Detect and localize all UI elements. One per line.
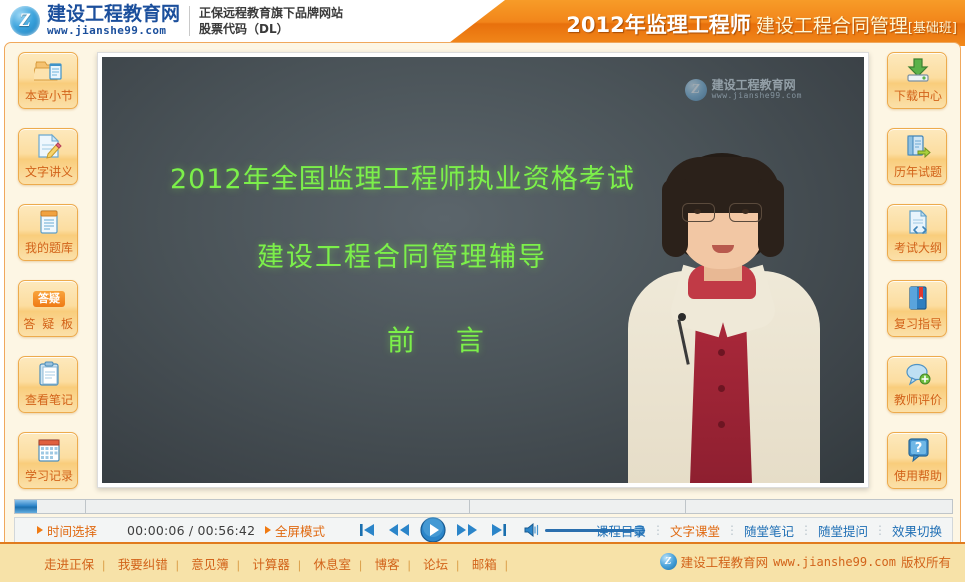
progress-marker: [469, 500, 470, 513]
clipboard-note-icon: [19, 361, 79, 387]
footer-link-blog[interactable]: 博客: [375, 557, 400, 572]
copyright-rights: 版权所有: [901, 552, 951, 571]
time-display: 00:00:06 / 00:56:42: [127, 518, 255, 542]
sidebar-item-label: 下载中心: [888, 89, 948, 103]
triangle-icon: [265, 526, 271, 534]
copyright-url: www.jianshe99.com: [773, 555, 896, 569]
header-divider: [189, 6, 190, 36]
sidebar-item-past-exams[interactable]: 历年试题: [887, 128, 947, 185]
notepad-lines-icon: [19, 209, 79, 235]
footer-separator: |: [176, 558, 179, 572]
link-separator: ⋮: [800, 523, 812, 537]
banner-tag: [基础班]: [908, 21, 957, 36]
header-subtitle-line2: 股票代码（DL）: [199, 21, 343, 37]
slide-text: 2012年全国监理工程师执业资格考试 建设工程合同管理辅导 前 言: [102, 57, 864, 483]
copyright-brand: 建设工程教育网: [681, 552, 769, 571]
banner-text: 2012年监理工程师 建设工程合同管理[基础班]: [566, 9, 957, 39]
download-arrow-icon: [888, 57, 948, 83]
time-select-button[interactable]: 时间选择: [37, 518, 97, 542]
video-screen[interactable]: 建设工程教育网 www.jianshe99.com: [102, 57, 864, 483]
sidebar-item-label: 使用帮助: [888, 469, 948, 483]
link-effect-switch[interactable]: 效果切换: [892, 521, 942, 540]
triangle-icon: [37, 526, 43, 534]
brand-text: 建设工程教育网 www.jianshe99.com: [47, 5, 180, 36]
link-separator: ⋮: [874, 523, 886, 537]
slide-line-3: 前 言: [387, 319, 500, 359]
slide-line-1: 2012年全国监理工程师执业资格考试: [170, 157, 635, 196]
banner-year: 2012年监理工程师: [566, 13, 750, 37]
video-player[interactable]: 建设工程教育网 www.jianshe99.com: [97, 52, 869, 488]
sidebar-item-label: 教师评价: [888, 393, 948, 407]
rewind-button[interactable]: [387, 519, 411, 541]
footer-separator: |: [237, 558, 240, 572]
player-panel: 本章小节 文字讲义: [4, 42, 961, 544]
chat-plus-icon: [888, 361, 948, 387]
left-sidebar: 本章小节 文字讲义: [14, 52, 82, 508]
answer-badge-icon: 答疑: [19, 285, 79, 311]
sidebar-item-label: 文字讲义: [19, 165, 79, 179]
feature-links: 课程目录 ⋮ 文字课堂 ⋮ 随堂笔记 ⋮ 随堂提问 ⋮ 效果切换: [596, 518, 942, 542]
footer-link-lounge[interactable]: 休息室: [313, 557, 351, 572]
document-pencil-icon: [19, 133, 79, 159]
footer-separator: |: [102, 558, 105, 572]
site-branding: 建设工程教育网 www.jianshe99.com 正保远程教育旗下品牌网站 股…: [10, 5, 343, 37]
video-progress-bar[interactable]: [14, 499, 953, 514]
link-class-notes[interactable]: 随堂笔记: [744, 521, 794, 540]
svg-text:?: ?: [915, 441, 923, 456]
footer-separator: |: [298, 558, 301, 572]
sidebar-item-label: 历年试题: [888, 165, 948, 179]
sidebar-item-label: 我的题库: [19, 241, 79, 255]
page-header: 建设工程教育网 www.jianshe99.com 正保远程教育旗下品牌网站 股…: [0, 0, 965, 46]
slide-line-2: 建设工程合同管理辅导: [257, 235, 547, 274]
sidebar-item-label: 本章小节: [19, 89, 79, 103]
course-player-page: 建设工程教育网 www.jianshe99.com 正保远程教育旗下品牌网站 股…: [0, 0, 965, 582]
course-banner: 2012年监理工程师 建设工程合同管理[基础班]: [445, 0, 965, 46]
sidebar-item-review-guide[interactable]: 复习指导: [887, 280, 947, 337]
progress-fill: [15, 500, 37, 513]
page-footer: 走进正保| 我要纠错| 意见簿| 计算器| 休息室| 博客| 论坛| 邮箱| 建…: [0, 542, 965, 582]
skip-to-start-button[interactable]: [355, 519, 379, 541]
footer-separator: |: [408, 558, 411, 572]
link-course-catalog[interactable]: 课程目录: [596, 521, 646, 540]
question-help-icon: ?: [888, 437, 948, 463]
link-separator: ⋮: [726, 523, 738, 537]
fullscreen-button[interactable]: 全屏模式: [265, 518, 325, 542]
link-text-classroom[interactable]: 文字课堂: [670, 521, 720, 540]
footer-link-calculator[interactable]: 计算器: [252, 557, 290, 572]
calendar-icon: [19, 437, 79, 463]
sidebar-item-exam-syllabus[interactable]: 考试大纲: [887, 204, 947, 261]
play-button[interactable]: [419, 519, 447, 541]
footer-link-forum[interactable]: 论坛: [423, 557, 448, 572]
footer-separator: |: [456, 558, 459, 572]
sidebar-item-label: 考试大纲: [888, 241, 948, 255]
header-subtitle: 正保远程教育旗下品牌网站 股票代码（DL）: [199, 5, 343, 37]
header-subtitle-line1: 正保远程教育旗下品牌网站: [199, 5, 343, 21]
progress-marker: [685, 500, 686, 513]
player-controls: 时间选择 00:00:06 / 00:56:42 全屏模式: [14, 517, 953, 543]
time-select-label: 时间选择: [47, 521, 97, 540]
fast-forward-button[interactable]: [455, 519, 479, 541]
footer-link-zoubao[interactable]: 走进正保: [44, 557, 94, 572]
time-display-label: 00:00:06 / 00:56:42: [127, 523, 255, 538]
footer-link-mail[interactable]: 邮箱: [472, 557, 497, 572]
footer-link-feedback[interactable]: 意见簿: [191, 557, 229, 572]
sidebar-item-chapter-summary[interactable]: 本章小节: [18, 52, 78, 109]
right-sidebar: 下载中心 历年试题: [883, 52, 951, 508]
answer-badge-label: 答疑: [33, 291, 65, 307]
brand-name: 建设工程教育网: [47, 5, 180, 25]
fullscreen-label: 全屏模式: [275, 521, 325, 540]
document-code-icon: [888, 209, 948, 235]
progress-marker: [85, 500, 86, 513]
sidebar-item-label: 查看笔记: [19, 393, 79, 407]
link-class-question[interactable]: 随堂提问: [818, 521, 868, 540]
volume-button[interactable]: [521, 519, 545, 541]
sidebar-item-label: 答 疑 板: [19, 317, 79, 331]
brand-url: www.jianshe99.com: [47, 25, 180, 37]
sidebar-item-text-lecture[interactable]: 文字讲义: [18, 128, 78, 185]
jianshe99-logo-icon: [660, 553, 677, 570]
jianshe99-logo-icon: [10, 6, 40, 36]
book-bookmark-icon: [888, 285, 948, 311]
banner-course: 建设工程合同管理: [756, 15, 908, 37]
sidebar-item-label: 学习记录: [19, 469, 79, 483]
book-arrow-icon: [888, 133, 948, 159]
sidebar-item-study-record[interactable]: 学习记录: [18, 432, 78, 489]
sidebar-item-teacher-rating[interactable]: 教师评价: [887, 356, 947, 413]
sidebar-item-view-notes[interactable]: 查看笔记: [18, 356, 78, 413]
sidebar-item-question-bank[interactable]: 我的题库: [18, 204, 78, 261]
link-separator: ⋮: [652, 523, 664, 537]
sidebar-item-qa-board[interactable]: 答疑 答 疑 板: [18, 280, 78, 337]
sidebar-item-label: 复习指导: [888, 317, 948, 331]
sidebar-item-help[interactable]: ? 使用帮助: [887, 432, 947, 489]
skip-to-end-button[interactable]: [487, 519, 511, 541]
sidebar-item-download-center[interactable]: 下载中心: [887, 52, 947, 109]
footer-links: 走进正保| 我要纠错| 意见簿| 计算器| 休息室| 博客| 论坛| 邮箱|: [0, 554, 560, 574]
footer-copyright: 建设工程教育网 www.jianshe99.com 版权所有: [660, 552, 951, 571]
folder-document-icon: [19, 57, 79, 83]
footer-separator: |: [359, 558, 362, 572]
footer-link-report-error[interactable]: 我要纠错: [118, 557, 168, 572]
footer-separator: |: [505, 558, 508, 572]
